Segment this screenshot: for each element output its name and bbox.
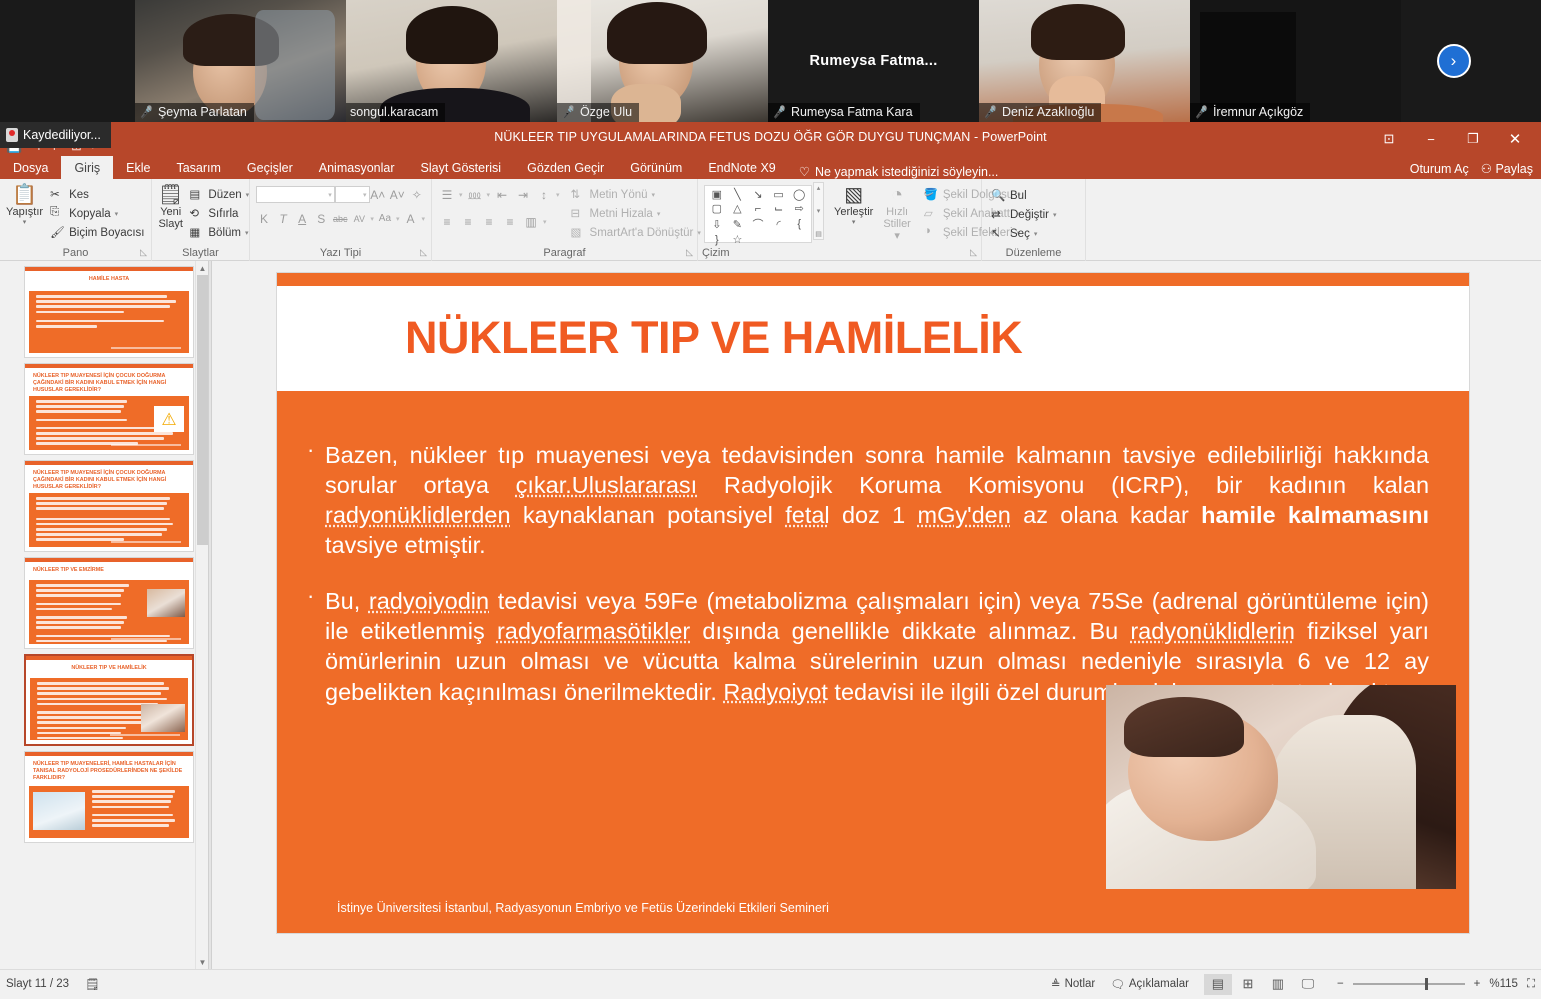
thumbnail-photo (141, 704, 185, 732)
shape-arrow-icon[interactable]: ↘ (748, 188, 768, 201)
shape-triangle-icon[interactable]: △ (728, 202, 748, 215)
replace-button[interactable]: ⇄ Değiştir ▾ (988, 205, 1079, 224)
restore-button[interactable]: ❐ (1453, 125, 1493, 153)
powerpoint-window: 💾 ↰ ↱ ⊞ ▾ Kaydediliyor... NÜKLEER TIP UY… (0, 122, 1541, 999)
ribbon-group-duzenleme: 🔍 Bul ⇄ Değiştir ▾ ↖ Seç ▾ Düzenleme (982, 179, 1086, 261)
cut-button[interactable]: ✂ Kes (47, 185, 147, 204)
format-painter-icon: 🖌 (50, 225, 65, 240)
change-case-icon[interactable]: Aa (377, 210, 393, 227)
zoom-slider-handle[interactable] (1425, 978, 1428, 990)
scroll-up-icon[interactable]: ▲ (196, 261, 208, 275)
window-title: NÜKLEER TIP UYGULAMALARINDA FETUS DOZU Ö… (0, 130, 1541, 144)
notes-icon: ≜ (1051, 977, 1061, 991)
group-label-paragraf: Paragraf (432, 247, 697, 259)
align-left-icon[interactable]: ≡ (438, 213, 456, 230)
mic-muted-icon: 🎤 (1195, 106, 1207, 118)
align-right-icon[interactable]: ≡ (480, 213, 498, 230)
current-slide[interactable]: NÜKLEER TIP VE HAMİLELİK Bazen, nükleer … (277, 273, 1469, 933)
select-icon: ↖ (991, 226, 1006, 241)
shapes-gallery-scrollbar[interactable]: ▴ ▾ ▤ (813, 182, 824, 240)
tab-gecisler[interactable]: Geçişler (234, 156, 306, 179)
tab-tasarim[interactable]: Tasarım (163, 156, 233, 179)
cizim-dialog-launcher[interactable]: ◺ (970, 247, 977, 258)
paste-icon: 📋 (12, 184, 37, 206)
scroll-down-icon[interactable]: ▾ (817, 207, 821, 215)
minimize-button[interactable]: − (1411, 125, 1451, 153)
section-icon: ▦ (189, 225, 204, 240)
shape-oval-icon[interactable]: ◯ (789, 188, 809, 201)
chevron-right-icon[interactable]: › (1437, 44, 1471, 78)
p1-seg2: Radyolojik Koruma Komisyonu (ICRP), bir … (697, 472, 1429, 498)
participant-name-3: 🎤 Özge Ulu (557, 103, 639, 122)
p2-sq3: radyonüklidlerin (1130, 618, 1295, 644)
fit-to-window-icon[interactable]: ⛶ (1527, 978, 1535, 991)
video-tile-5[interactable]: 🎤 Deniz Azaklıoğlu (979, 0, 1190, 122)
shape-right-brace-icon[interactable]: } (707, 233, 727, 246)
replace-icon: ⇄ (991, 207, 1006, 222)
ribbon-display-icon[interactable]: ⊡ (1369, 125, 1409, 153)
window-controls: ⊡ − ❐ ✕ (1369, 122, 1535, 156)
group-label-yazi-tipi: Yazı Tipi (250, 247, 431, 259)
zoom-slider[interactable] (1353, 983, 1465, 985)
reset-button[interactable]: ⟲ Sıfırla (186, 204, 252, 223)
scrollbar-thumb[interactable] (197, 275, 208, 545)
font-name-input[interactable] (256, 186, 335, 203)
ribbon-group-paragraf: ☰ ▾ ⅏ ▾ ⇤ ⇥ ↕ ▾ ≡ ≡ ≡ ≡ ▥ (432, 179, 698, 261)
group-label-pano: Pano (0, 247, 151, 259)
slideshow-icon[interactable]: 🖵 (1294, 974, 1322, 995)
increase-indent-icon[interactable]: ⇥ (514, 186, 532, 203)
slide-title: NÜKLEER TIP VE HAMİLELİK (277, 312, 1022, 364)
search-icon: 🔍 (991, 188, 1006, 203)
group-label-duzenleme: Düzenleme (982, 247, 1085, 259)
slide-title-placeholder[interactable]: NÜKLEER TIP VE HAMİLELİK (277, 286, 1469, 389)
thumbnail-title: NÜKLEER TIP MUAYENESİ İÇİN ÇOCUK DOĞURMA… (25, 465, 193, 492)
thumbnail-slide-11[interactable]: 11 NÜKLEER TIP VE HAMİLELİK (24, 654, 194, 746)
character-spacing-icon[interactable]: AV (351, 210, 367, 227)
video-conference-strip: 🎤 Şeyma Parlatan songul.karacam 🎤 Özge U… (0, 0, 1541, 122)
shape-effects-icon: ◑ (924, 225, 939, 240)
p1-sq2: radyonüklidlerden (325, 502, 511, 528)
video-strip-nav: › (1401, 0, 1506, 122)
tab-giris[interactable]: Giriş (61, 156, 113, 179)
thumbnail-title: NÜKLEER TIP VE EMZİRME (25, 562, 193, 576)
align-text-button[interactable]: ⊟ Metni Hizala ▾ (568, 204, 704, 223)
shadow-button[interactable]: S (313, 210, 329, 227)
thumbnail-slide-10[interactable]: 10 NÜKLEER TIP VE EMZİRME (24, 557, 194, 649)
tell-me-box[interactable]: ♡ Ne yapmak istediğinizi söyleyin... (799, 164, 999, 179)
bold-button[interactable]: K (256, 210, 272, 227)
notes-button[interactable]: ≜ Notlar (1051, 977, 1095, 991)
slide-top-accent-bar (277, 273, 1469, 286)
normal-view-icon[interactable]: ▤ (1204, 974, 1232, 995)
smartart-icon: ▧ (571, 225, 586, 240)
font-color-icon[interactable]: A (402, 210, 418, 227)
status-right: ≜ Notlar 🗨 Açıklamalar ▤ ⊞ ▥ 🖵 − + %115 (1051, 974, 1535, 995)
justify-icon[interactable]: ≡ (501, 213, 519, 230)
columns-icon[interactable]: ▥ (522, 213, 540, 230)
p1-seg3: kaynaklanan potansiyel (511, 502, 786, 528)
saving-tooltip: Kaydediliyor... (0, 122, 111, 148)
thumbnail-body (29, 291, 189, 353)
participant-name-5: 🎤 Deniz Azaklıoğlu (979, 103, 1101, 122)
participant-name-2: songul.karacam (346, 103, 445, 122)
slide-body-placeholder[interactable]: Bazen, nükleer tıp muayenesi veya tedavi… (277, 389, 1469, 933)
ribbon-group-pano: 📋 Yapıştır ▾ ✂ Kes ⎘ Kopyala ▾ 🖌 (0, 179, 152, 261)
shape-line-icon[interactable]: ╲ (728, 188, 748, 201)
slide-counter[interactable]: Slayt 11 / 23 (6, 978, 69, 990)
p1-sq4: mGy'den (918, 502, 1011, 528)
shape-right-arrow-icon[interactable]: ⇨ (789, 202, 809, 215)
copy-button[interactable]: ⎘ Kopyala ▾ (47, 204, 147, 223)
shape-textbox-icon[interactable]: ▣ (707, 188, 727, 201)
thumbnail-body (29, 580, 189, 644)
tab-animasyonlar[interactable]: Animasyonlar (306, 156, 408, 179)
copy-icon: ⎘ (50, 206, 65, 221)
line-spacing-icon[interactable]: ↕ (535, 186, 553, 203)
warning-triangle-icon: ⚠ (154, 406, 184, 432)
video-tile-3[interactable]: 🎤 Özge Ulu (557, 0, 768, 122)
work-area: 7 HAMİLE HASTA 8 NÜKL (0, 261, 1541, 969)
status-left: Slayt 11 / 23 🗒 (0, 977, 100, 991)
section-button[interactable]: ▦ Bölüm ▾ (186, 223, 252, 242)
tab-slayt-gosterisi[interactable]: Slayt Gösterisi (408, 156, 515, 179)
text-direction-icon: ⇅ (571, 187, 586, 202)
thumbnail-body (29, 493, 189, 547)
account-area: Oturum Aç ⚇ Paylaş (1410, 161, 1533, 176)
reading-view-icon[interactable]: ▥ (1264, 974, 1292, 995)
shape-curve-icon[interactable]: ⌒ (748, 216, 768, 232)
title-bar: 💾 ↰ ↱ ⊞ ▾ Kaydediliyor... NÜKLEER TIP UY… (0, 122, 1541, 156)
p1-seg4: doz 1 (830, 502, 918, 528)
lightbulb-icon: ♡ (799, 164, 810, 179)
p2-seg1: Bu, (325, 588, 369, 614)
shape-elbow-arrow-icon[interactable]: ⌙ (769, 202, 789, 215)
reset-icon: ⟲ (189, 206, 204, 221)
ribbon-group-cizim: ▣ ╲ ↘ ▭ ◯ ▢ △ ⌐ ⌙ ⇨ ⇩ ✎ ⌒ ◜ { (698, 179, 982, 261)
thumbnail-body (29, 786, 189, 838)
shape-rectangle-icon[interactable]: ▭ (769, 188, 789, 201)
select-button[interactable]: ↖ Seç ▾ (988, 224, 1079, 243)
tab-ekle[interactable]: Ekle (113, 156, 163, 179)
italic-button[interactable]: T (275, 210, 291, 227)
share-person-icon: ⚇ (1481, 162, 1492, 176)
video-tile-2[interactable]: songul.karacam (346, 0, 557, 122)
thumbnail-title: HAMİLE HASTA (25, 271, 193, 285)
share-button[interactable]: ⚇ Paylaş (1481, 161, 1533, 176)
scroll-down-icon[interactable]: ▼ (196, 955, 208, 969)
shape-elbow-icon[interactable]: ⌐ (748, 202, 768, 215)
new-slide-button[interactable]: 🗒 Yeni Slayt (158, 182, 183, 242)
layout-button[interactable]: ▤ Düzen ▾ (186, 185, 252, 204)
video-tile-6[interactable]: 🎤 İremnur Açıkgöz (1190, 0, 1401, 122)
quick-styles-button[interactable]: ◔ Hızlı Stiller ▾ (883, 182, 911, 243)
tab-gozden-gecir[interactable]: Gözden Geçir (514, 156, 617, 179)
video-strip-left-spacer (0, 0, 135, 122)
participant-name-1: 🎤 Şeyma Parlatan (135, 103, 254, 122)
proofing-icon[interactable]: 🗒 (85, 977, 100, 991)
quick-styles-icon: ◔ (891, 184, 903, 206)
new-slide-icon: 🗒 (158, 184, 183, 206)
slide-sorter-icon[interactable]: ⊞ (1234, 974, 1262, 995)
paragraf-dialog-launcher[interactable]: ◺ (686, 247, 693, 258)
thumbnail-slide-7[interactable]: 7 HAMİLE HASTA (24, 266, 194, 358)
numbering-icon[interactable]: ⅏ (466, 186, 484, 203)
thumbnail-slide-8[interactable]: 8 NÜKLEER TIP MUAYENESİ İÇİN ÇOCUK DOĞUR… (24, 363, 194, 455)
shapes-more-icon[interactable]: ▤ (815, 230, 822, 238)
newborn-baby-photo[interactable] (1106, 685, 1456, 889)
slide-footer: İstinye Üniversitesi İstanbul, Radyasyon… (337, 901, 829, 915)
mic-muted-icon: 🎤 (562, 106, 574, 118)
thumbnail-slide-9[interactable]: 9 NÜKLEER TIP MUAYENESİ İÇİN ÇOCUK DOĞUR… (24, 460, 194, 552)
tab-endnote-x9[interactable]: EndNote X9 (695, 156, 788, 179)
thumbnail-photo (147, 589, 185, 617)
bullets-icon[interactable]: ☰ (438, 186, 456, 203)
p2-sq2: radyofarmasötikler (497, 618, 690, 644)
shape-rounded-rect-icon[interactable]: ▢ (707, 202, 727, 215)
tab-dosya[interactable]: Dosya (0, 156, 61, 179)
underline-button[interactable]: A (294, 210, 310, 227)
shape-freeform-icon[interactable]: ✎ (728, 216, 748, 232)
group-label-slaytlar: Slaytlar (152, 247, 249, 259)
paste-button[interactable]: 📋 Yapıştır ▾ (6, 182, 43, 242)
participant-name-6: 🎤 İremnur Açıkgöz (1190, 103, 1310, 122)
scissors-icon: ✂ (50, 187, 65, 202)
mic-muted-icon: 🎤 (140, 106, 152, 118)
ribbon-group-yazi-tipi: ▾ ▾ A˄ A˅ ✧ K T A S abc AV ▾ Aa ▾ A ▾ Ya… (250, 179, 432, 261)
p1-seg6: tavsiye etmiştir. (325, 532, 486, 558)
grow-font-icon[interactable]: A˄ (370, 186, 387, 203)
format-painter-button[interactable]: 🖌 Biçim Boyacısı (47, 223, 147, 242)
p2-sq1: radyoiyodin (369, 588, 489, 614)
slide-paragraph-1: Bazen, nükleer tıp muayenesi veya tedavi… (299, 440, 1429, 560)
ribbon: 📋 Yapıştır ▾ ✂ Kes ⎘ Kopyala ▾ 🖌 (0, 179, 1541, 261)
zoom-control: − + %115 ⛶ (1337, 978, 1535, 991)
slide-thumbnail-pane[interactable]: 7 HAMİLE HASTA 8 NÜKL (0, 261, 208, 969)
convert-smartart-button[interactable]: ▧ SmartArt'a Dönüştür ▾ (568, 223, 704, 242)
pano-dialog-launcher[interactable]: ◺ (140, 247, 147, 258)
comments-button[interactable]: 🗨 Açıklamalar (1110, 977, 1189, 991)
shape-star-icon[interactable]: ☆ (728, 233, 748, 246)
thumbnail-slide-12[interactable]: 12 NÜKLEER TIP MUAYENELERİ, HAMİLE HASTA… (24, 751, 194, 843)
participant-name-4: 🎤 Rumeysa Fatma Kara (768, 103, 920, 122)
p2-sq4: Radyoiyot (723, 679, 828, 705)
align-center-icon[interactable]: ≡ (459, 213, 477, 230)
shapes-gallery[interactable]: ▣ ╲ ↘ ▭ ◯ ▢ △ ⌐ ⌙ ⇨ ⇩ ✎ ⌒ ◜ { (704, 185, 812, 243)
thumbnail-body: ⚠ (29, 396, 189, 450)
find-button[interactable]: 🔍 Bul (988, 186, 1079, 205)
zoom-out-button[interactable]: − (1337, 978, 1344, 990)
ribbon-tabs: Dosya Giriş Ekle Tasarım Geçişler Animas… (0, 156, 1541, 179)
video-tile-4[interactable]: Rumeysa Fatma... 🎤 Rumeysa Fatma Kara (768, 0, 979, 122)
zoom-level[interactable]: %115 (1489, 978, 1518, 990)
status-bar: Slayt 11 / 23 🗒 ≜ Notlar 🗨 Açıklamalar ▤… (0, 969, 1541, 998)
text-direction-button[interactable]: ⇅ Metin Yönü ▾ (568, 185, 704, 204)
tab-gorunum[interactable]: Görünüm (617, 156, 695, 179)
video-tile-1[interactable]: 🎤 Şeyma Parlatan (135, 0, 346, 122)
sign-in-link[interactable]: Oturum Aç (1410, 162, 1469, 176)
zoom-in-button[interactable]: + (1474, 978, 1481, 990)
shape-left-brace-icon[interactable]: { (789, 216, 809, 232)
slide-editing-stage[interactable]: NÜKLEER TIP VE HAMİLELİK Bazen, nükleer … (212, 261, 1541, 969)
p1-sq1: çıkar.Uluslararası (516, 472, 698, 498)
p2-seg3: dışında genellikle dikkate alınmaz. Bu (690, 618, 1130, 644)
mic-muted-icon: 🎤 (984, 106, 996, 118)
layout-icon: ▤ (189, 187, 204, 202)
shape-fill-icon: 🪣 (924, 187, 939, 202)
mic-muted-icon: 🎤 (773, 106, 785, 118)
close-button[interactable]: ✕ (1495, 125, 1535, 153)
align-text-icon: ⊟ (571, 206, 586, 221)
ribbon-group-slaytlar: 🗒 Yeni Slayt ▤ Düzen ▾ ⟲ Sıfırla ▦ (152, 179, 250, 261)
arrange-button[interactable]: ▧ Yerleştir ▾ (834, 182, 873, 243)
save-status-icon (6, 128, 18, 142)
p1-seg5: az olana kadar (1011, 502, 1201, 528)
p1-sq3: fetal (785, 502, 829, 528)
thumbnail-photo (33, 792, 85, 830)
arrange-icon: ▧ (844, 184, 863, 206)
strikethrough-button[interactable]: abc (332, 210, 348, 227)
scroll-up-icon[interactable]: ▴ (817, 184, 821, 192)
shape-arc-icon[interactable]: ◜ (769, 216, 789, 232)
shape-down-arrow-icon[interactable]: ⇩ (707, 216, 727, 232)
decrease-indent-icon[interactable]: ⇤ (493, 186, 511, 203)
clear-formatting-icon[interactable]: ✧ (409, 186, 426, 203)
thumbnail-body (30, 678, 188, 740)
thumbnail-scrollbar[interactable]: ▲ ▼ (195, 261, 208, 969)
thumbnail-title: NÜKLEER TIP VE HAMİLELİK (26, 660, 192, 674)
shrink-font-icon[interactable]: A˅ (389, 186, 406, 203)
comments-icon: 🗨 (1110, 977, 1125, 991)
font-dialog-launcher[interactable]: ◺ (420, 247, 427, 258)
thumbnail-title: NÜKLEER TIP MUAYENELERİ, HAMİLE HASTALAR… (25, 756, 193, 783)
shape-outline-icon: ▱ (924, 206, 939, 221)
p1-bold1: hamile kalmamasını (1201, 502, 1429, 528)
thumbnail-title: NÜKLEER TIP MUAYENESİ İÇİN ÇOCUK DOĞURMA… (25, 368, 193, 395)
group-label-cizim: Çizim (698, 247, 981, 259)
